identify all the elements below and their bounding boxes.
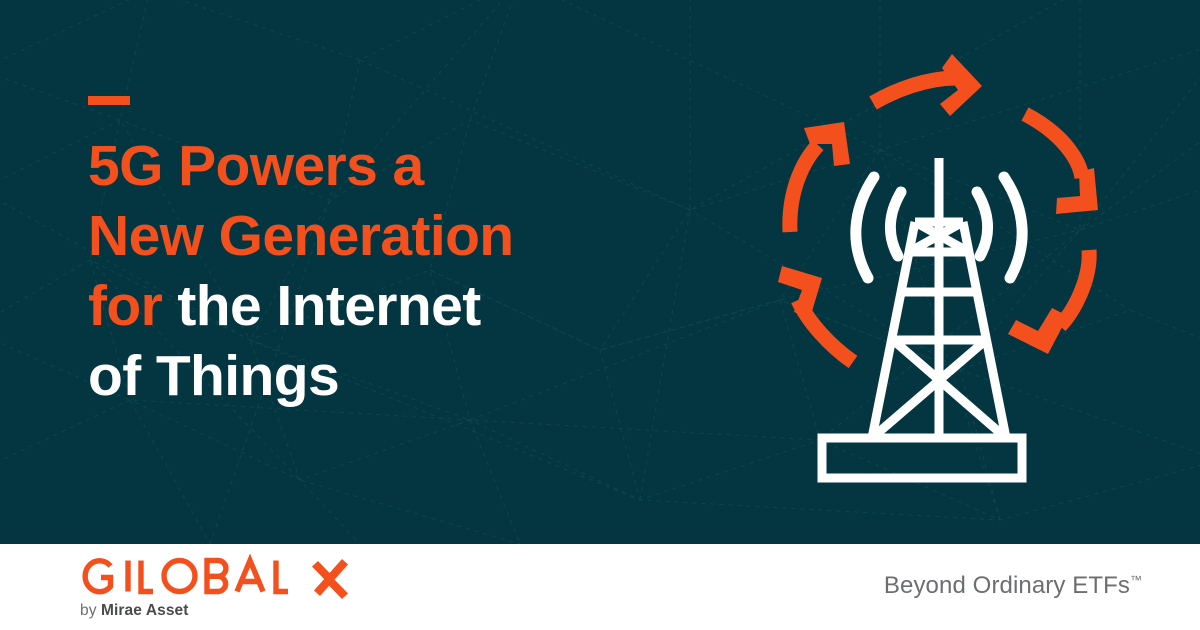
footer-bar: by Mirae Asset Beyond Ordinary ETFs™ (0, 544, 1200, 630)
trademark-symbol: ™ (1130, 573, 1142, 587)
accent-dash (88, 96, 130, 105)
cell-tower-illustration (760, 50, 1140, 490)
brand-logo[interactable]: by Mirae Asset (80, 553, 352, 620)
signal-wave-left-outer (856, 177, 874, 278)
headline-line-1: 5G Powers a (88, 131, 708, 201)
global-x-wordmark (80, 553, 352, 599)
circular-arrow-top-right-path (1025, 114, 1082, 178)
arrowhead-lower-left-icon (778, 266, 822, 318)
headline-line-2: New Generation (88, 201, 708, 271)
signal-wave-left-inner (890, 192, 901, 256)
circular-arrow-upper-left-path (790, 145, 818, 232)
headline-line-3: for the Internet (88, 271, 708, 341)
signal-wave-right-inner (977, 192, 988, 256)
tagline-text: Beyond Ordinary ETFs (884, 572, 1130, 599)
hero-section: 5G Powers a New Generation for the Inter… (0, 0, 1200, 544)
logo-row (80, 553, 352, 599)
marketing-banner: 5G Powers a New Generation for the Inter… (0, 0, 1200, 630)
x-mark-icon (312, 559, 348, 599)
logo-byline: by Mirae Asset (80, 602, 352, 620)
byline-brand: Mirae Asset (101, 602, 189, 619)
arrowhead-bottom-left-icon (1008, 308, 1068, 354)
headline-block: 5G Powers a New Generation for the Inter… (88, 96, 708, 411)
cell-tower-structure (822, 158, 1022, 478)
footer-tagline: Beyond Ordinary ETFs™ (884, 572, 1142, 600)
page-title: 5G Powers a New Generation for the Inter… (88, 131, 708, 411)
tower-base-plate (822, 438, 1022, 478)
signal-wave-right-outer (1004, 177, 1022, 278)
headline-line-4: of Things (88, 341, 708, 411)
headline-line-3-white: the Internet (177, 274, 480, 338)
byline-prefix: by (80, 602, 97, 619)
headline-line-3-orange: for (88, 274, 177, 338)
